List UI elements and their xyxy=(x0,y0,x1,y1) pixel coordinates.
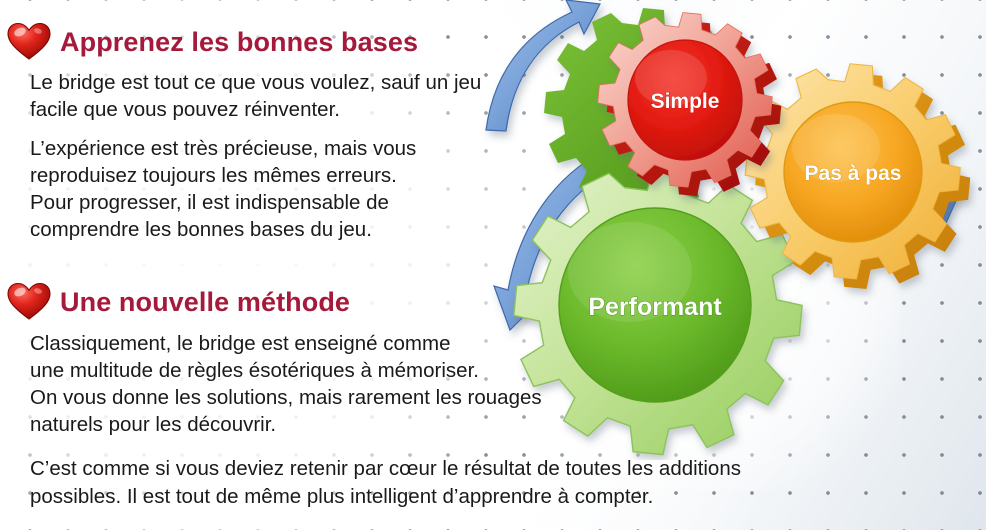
section-heading-methode: Une nouvelle méthode xyxy=(60,287,350,318)
text-line: une multitude de règles ésotériques à mé… xyxy=(30,357,600,384)
text-line: Pour progresser, il est indispensable de xyxy=(30,189,600,216)
text-line: facile que vous pouvez réinventer. xyxy=(30,96,600,123)
paragraph-bottom: C’est comme si vous deviez retenir par c… xyxy=(0,455,960,511)
section-une-nouvelle-methode: Une nouvelle méthode Classiquement, le b… xyxy=(0,282,600,438)
paragraph-methode-1: Classiquement, le bridge est enseigné co… xyxy=(0,330,600,438)
text-line: reproduisez toujours les mêmes erreurs. xyxy=(30,162,600,189)
section-heading-bases: Apprenez les bonnes bases xyxy=(60,27,418,58)
paragraph-bases-2: L’expérience est très précieuse, mais vo… xyxy=(0,135,600,243)
text-line: possibles. Il est tout de même plus inte… xyxy=(30,483,960,511)
text-line: Classiquement, le bridge est enseigné co… xyxy=(30,330,600,357)
poster-root: Performant Pas à pas Simple xyxy=(0,0,986,530)
text-line: On vous donne les solutions, mais rareme… xyxy=(30,384,600,411)
text-line: Le bridge est tout ce que vous voulez, s… xyxy=(30,69,600,96)
heart-icon xyxy=(6,282,52,322)
heading-row-bases: Apprenez les bonnes bases xyxy=(0,22,600,62)
gear-label-performant: Performant xyxy=(588,293,722,321)
paragraph-bases-1: Le bridge est tout ce que vous voulez, s… xyxy=(0,69,600,123)
gear-label-simple: Simple xyxy=(651,90,720,113)
heart-icon xyxy=(6,22,52,62)
heading-row-methode: Une nouvelle méthode xyxy=(0,282,600,322)
section-apprenez-les-bonnes-bases: Apprenez les bonnes bases Le bridge est … xyxy=(0,22,600,243)
text-column: Apprenez les bonnes bases Le bridge est … xyxy=(0,0,600,530)
text-line: L’expérience est très précieuse, mais vo… xyxy=(30,135,600,162)
text-line: naturels pour les découvrir. xyxy=(30,411,600,438)
text-line: C’est comme si vous deviez retenir par c… xyxy=(30,455,960,483)
section-bottom-paragraph: C’est comme si vous deviez retenir par c… xyxy=(0,455,960,511)
text-line: comprendre les bonnes bases du jeu. xyxy=(30,216,600,243)
gear-label-pas-a-pas: Pas à pas xyxy=(805,162,902,185)
